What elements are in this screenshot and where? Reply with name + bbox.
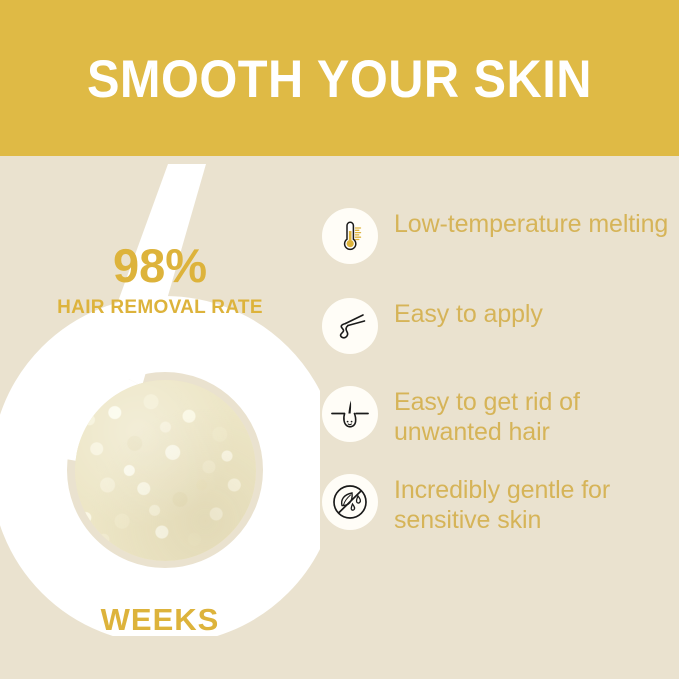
feature-list: Low-temperature melting Easy to apply	[322, 206, 679, 538]
hair-follicle-icon	[330, 397, 370, 431]
feature-icon-badge	[322, 298, 378, 354]
feature-item: Easy to apply	[322, 296, 679, 362]
feature-icon-badge	[322, 208, 378, 264]
feature-label: Low-temperature melting	[394, 206, 679, 240]
no-irritation-icon	[331, 483, 369, 521]
feature-icon-badge	[322, 474, 378, 530]
feature-item: Low-temperature melting	[322, 206, 679, 272]
feature-label: Incredibly gentle for sensitive skin	[394, 472, 679, 535]
wax-applicator-icon	[332, 309, 368, 343]
wax-beads-shading	[75, 380, 256, 561]
weeks-label: WEEKS	[0, 604, 320, 635]
header-banner: SMOOTH YOUR SKIN	[0, 0, 679, 156]
feature-item: Easy to get rid of unwanted hair	[322, 384, 679, 450]
feature-label: Easy to get rid of unwanted hair	[394, 384, 679, 447]
duration-panel: 98% HAIR REMOVAL RATE WEEKS	[0, 156, 320, 679]
feature-label: Easy to apply	[394, 296, 679, 330]
thermometer-icon	[333, 219, 367, 253]
hair-removal-percent: 98%	[0, 242, 320, 289]
hair-removal-caption: HAIR REMOVAL RATE	[0, 298, 320, 317]
feature-item: Incredibly gentle for sensitive skin	[322, 472, 679, 538]
wax-beads-photo	[75, 380, 256, 561]
feature-icon-badge	[322, 386, 378, 442]
page-title: SMOOTH YOUR SKIN	[87, 53, 592, 106]
stat-block: 98% HAIR REMOVAL RATE	[0, 242, 320, 317]
product-infographic: SMOOTH YOUR SKIN 98% HAIR REMOVAL RATE W…	[0, 0, 679, 679]
